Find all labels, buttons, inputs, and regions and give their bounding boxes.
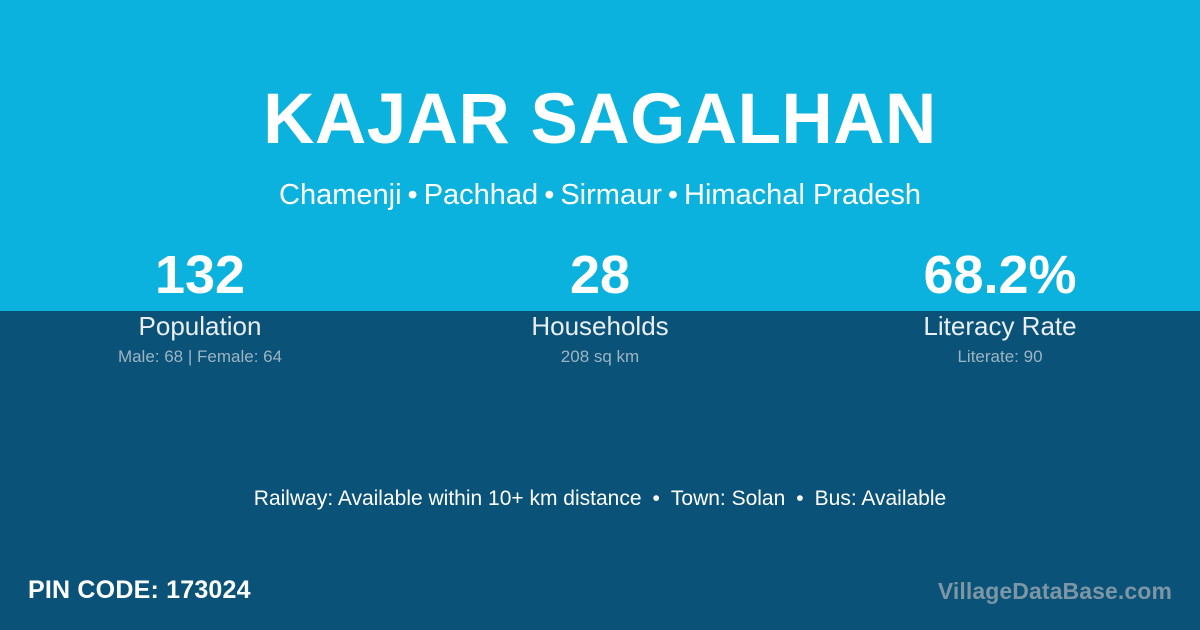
village-info-card: KAJAR SAGALHAN Chamenji•Pachhad•Sirmaur•…: [0, 0, 1200, 630]
stat-detail: Male: 68 | Female: 64: [0, 347, 400, 367]
breadcrumb-item-block: Chamenji: [279, 179, 402, 211]
infra-item-railway: Railway: Available within 10+ km distanc…: [254, 487, 642, 510]
breadcrumb: Chamenji•Pachhad•Sirmaur•Himachal Prades…: [0, 155, 1200, 210]
stat-label: Literacy Rate: [800, 311, 1200, 341]
infrastructure-summary: Railway: Available within 10+ km distanc…: [0, 486, 1200, 512]
card-header: KAJAR SAGALHAN Chamenji•Pachhad•Sirmaur•…: [0, 0, 1200, 210]
infra-item-town: Town: Solan: [671, 487, 785, 510]
breadcrumb-item-state: Himachal Pradesh: [684, 179, 921, 211]
breadcrumb-item-district: Sirmaur: [560, 179, 662, 211]
infra-separator: •: [785, 487, 814, 510]
stat-literacy-rate: 68.2% Literacy Rate Literate: 90: [800, 244, 1200, 367]
breadcrumb-separator: •: [662, 179, 684, 211]
stats-row: 132 Population Male: 68 | Female: 64 28 …: [0, 244, 1200, 367]
breadcrumb-separator: •: [402, 179, 424, 211]
infra-separator: •: [642, 487, 671, 510]
site-brand: VillageDataBase.com: [938, 576, 1172, 606]
breadcrumb-item-tehsil: Pachhad: [424, 179, 539, 211]
stat-value: 68.2%: [800, 244, 1200, 306]
stat-label: Population: [0, 311, 400, 341]
breadcrumb-separator: •: [538, 179, 560, 211]
stat-detail: Literate: 90: [800, 347, 1200, 367]
page-title: KAJAR SAGALHAN: [0, 0, 1200, 155]
stat-population: 132 Population Male: 68 | Female: 64: [0, 244, 400, 367]
stat-value: 28: [400, 244, 800, 306]
stat-label: Households: [400, 311, 800, 341]
stat-detail: 208 sq km: [400, 347, 800, 367]
card-footer: PIN CODE: 173024 VillageDataBase.com: [0, 574, 1200, 614]
infra-item-bus: Bus: Available: [815, 487, 947, 510]
stat-value: 132: [0, 244, 400, 306]
pin-code: PIN CODE: 173024: [28, 574, 251, 606]
stat-households: 28 Households 208 sq km: [400, 244, 800, 367]
